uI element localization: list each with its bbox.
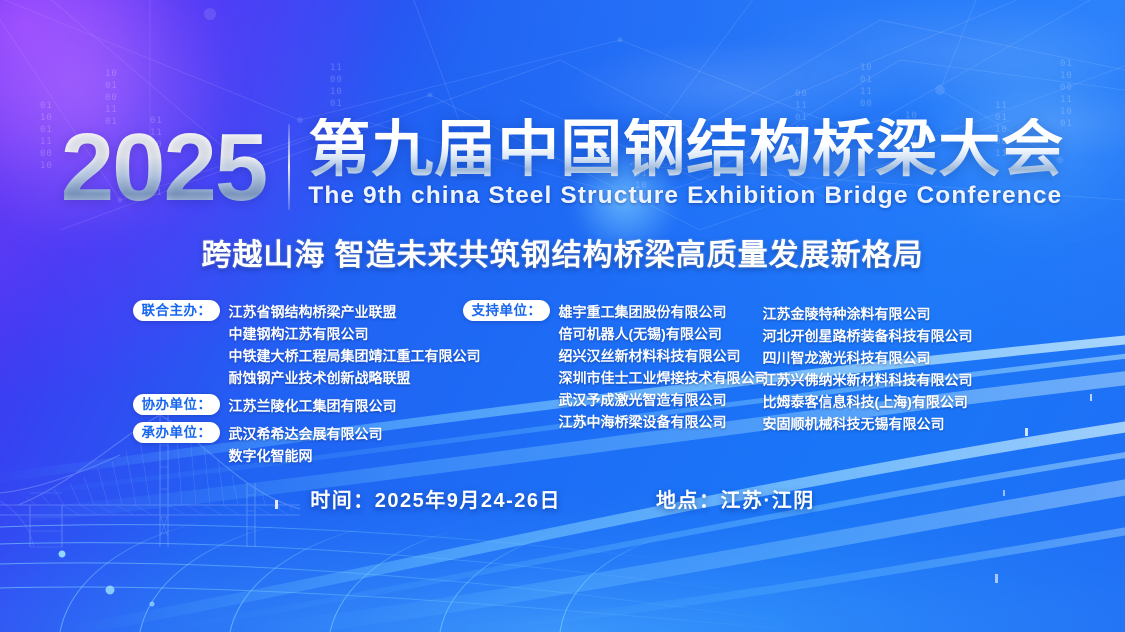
binary-column: 11 00 10 01: [330, 62, 343, 110]
supporters-list-two: 江苏金陵特种涂料有限公司 河北开创星路桥装备科技有限公司 四川智龙激光科技有限公…: [763, 302, 993, 435]
co-hosts-group: 联合主办： 江苏省钢结构桥梁产业联盟 中建钢构江苏有限公司 中铁建大桥工程局集团…: [133, 300, 463, 389]
event-meta: 时间：2025年9月24-26日 地点：江苏·江阴: [0, 484, 1125, 513]
list-item: 深圳市佳士工业焊接技术有限公司: [559, 367, 769, 389]
undertaker-label: 承办单位：: [133, 422, 220, 443]
title-row: 2025 第九届中国钢结构桥梁大会 The 9th china Steel St…: [0, 118, 1125, 214]
list-item: 江苏省钢结构桥梁产业联盟: [229, 301, 481, 323]
co-hosts-list: 江苏省钢结构桥梁产业联盟 中建钢构江苏有限公司 中铁建大桥工程局集团靖江重工有限…: [229, 300, 481, 389]
supporters-list-one: 雄宇重工集团股份有限公司 倍可机器人(无锡)有限公司 绍兴汉丝新材料科技有限公司…: [559, 300, 769, 433]
year-2025: 2025: [61, 122, 271, 214]
supporters-label: 支持单位：: [463, 300, 550, 321]
list-item: 江苏兴佛纳米新材料科技有限公司: [763, 369, 993, 391]
undertaker-list: 武汉希希达会展有限公司 数字化智能网: [229, 422, 383, 467]
list-item: 武汉予成激光智造有限公司: [559, 389, 769, 411]
title-divider: [288, 124, 290, 210]
co-hosts-label: 联合主办：: [133, 300, 220, 321]
co-organizer-group: 协办单位： 江苏兰陵化工集团有限公司: [133, 394, 463, 417]
list-item: 江苏兰陵化工集团有限公司: [229, 395, 397, 417]
organizations-section: 联合主办： 江苏省钢结构桥梁产业联盟 中建钢构江苏有限公司 中铁建大桥工程局集团…: [0, 300, 1125, 472]
list-item: 数字化智能网: [229, 445, 383, 467]
list-item: 江苏金陵特种涂料有限公司: [763, 303, 993, 325]
co-organizer-list: 江苏兰陵化工集团有限公司: [229, 394, 397, 417]
conference-tagline: 跨越山海 智造未来共筑钢结构桥梁高质量发展新格局: [0, 230, 1125, 274]
co-organizer-label: 协办单位：: [133, 394, 220, 415]
event-location: 地点：江苏·江阴: [656, 484, 815, 513]
conference-title-chinese: 第九届中国钢结构桥梁大会: [308, 118, 1064, 181]
list-item: 绍兴汉丝新材料科技有限公司: [559, 345, 769, 367]
title-block: 2025 第九届中国钢结构桥梁大会 The 9th china Steel St…: [0, 118, 1125, 274]
binary-column: 10 01 11 00: [860, 62, 873, 110]
conference-banner: 01 10 01 11 00 10 10 01 00 11 01 01 11 1…: [0, 0, 1125, 632]
list-item: 雄宇重工集团股份有限公司: [559, 301, 769, 323]
list-item: 中铁建大桥工程局集团靖江重工有限公司: [229, 345, 481, 367]
list-item: 河北开创星路桥装备科技有限公司: [763, 325, 993, 347]
list-item: 比姆泰客信息科技(上海)有限公司: [763, 391, 993, 413]
list-item: 江苏中海桥梁设备有限公司: [559, 411, 769, 433]
undertaker-group: 承办单位： 武汉希希达会展有限公司 数字化智能网: [133, 422, 463, 467]
supporters-group: 支持单位： 雄宇重工集团股份有限公司 倍可机器人(无锡)有限公司 绍兴汉丝新材料…: [463, 300, 763, 433]
list-item: 倍可机器人(无锡)有限公司: [559, 323, 769, 345]
list-item: 中建钢构江苏有限公司: [229, 323, 481, 345]
conference-title-english: The 9th china Steel Structure Exhibition…: [308, 183, 1064, 210]
list-item: 耐蚀钢产业技术创新战略联盟: [229, 367, 481, 389]
supporters-column-two: 江苏金陵特种涂料有限公司 河北开创星路桥装备科技有限公司 四川智龙激光科技有限公…: [763, 300, 993, 472]
list-item: 安固顺机械科技无锡有限公司: [763, 413, 993, 435]
list-item: 四川智龙激光科技有限公司: [763, 347, 993, 369]
supporters-column-one: 支持单位： 雄宇重工集团股份有限公司 倍可机器人(无锡)有限公司 绍兴汉丝新材料…: [463, 300, 763, 472]
list-item: 武汉希希达会展有限公司: [229, 423, 383, 445]
organizers-column: 联合主办： 江苏省钢结构桥梁产业联盟 中建钢构江苏有限公司 中铁建大桥工程局集团…: [133, 300, 463, 472]
event-date: 时间：2025年9月24-26日: [310, 484, 561, 513]
title-main-column: 第九届中国钢结构桥梁大会 The 9th china Steel Structu…: [308, 118, 1064, 210]
